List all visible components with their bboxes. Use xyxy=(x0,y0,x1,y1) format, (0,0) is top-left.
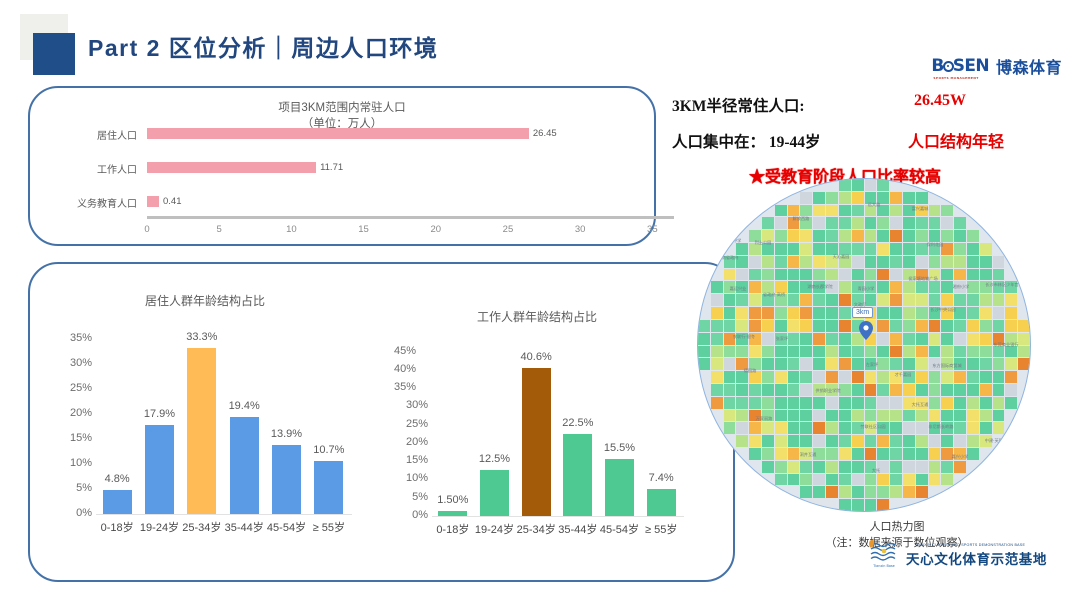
column-value-label: 33.3% xyxy=(181,331,223,343)
heatmap-cell xyxy=(941,435,953,447)
heatmap-cell xyxy=(839,461,851,473)
heatmap-cell xyxy=(839,346,851,358)
heatmap-cell xyxy=(839,333,851,345)
bosen-tagline: SPORTS MANAGEMENT xyxy=(933,76,978,80)
heatmap-cell xyxy=(775,486,787,498)
heatmap-cell xyxy=(788,486,800,498)
heatmap-cell xyxy=(852,256,864,268)
map-place-label: 省政府·高桥 xyxy=(763,292,785,298)
heatmap-cell xyxy=(993,422,1005,434)
heatmap-cell xyxy=(916,230,928,242)
heatmap-cell xyxy=(775,243,787,255)
heatmap-cell xyxy=(1005,307,1017,319)
heatmap-cell xyxy=(1018,448,1030,460)
heatmap-cell xyxy=(1005,384,1017,396)
heatmap-cell xyxy=(839,307,851,319)
heatmap-cell xyxy=(865,217,877,229)
heatmap-cell xyxy=(1018,397,1030,409)
map-place-label: 青园小学 xyxy=(858,286,875,292)
heatmap-cell xyxy=(877,256,889,268)
heatmap-cell xyxy=(762,384,774,396)
heatmap-cell xyxy=(890,281,902,293)
heatmap-cell xyxy=(788,397,800,409)
heatmap-cell xyxy=(865,410,877,422)
heatmap-cell xyxy=(826,269,838,281)
heatmap-cell xyxy=(800,243,812,255)
map-place-label: 中建·芙蓉熹光 xyxy=(985,438,1011,444)
heatmap-cell xyxy=(813,205,825,217)
heatmap-cell xyxy=(967,320,979,332)
heatmap-cell xyxy=(736,448,748,460)
heatmap-cell xyxy=(967,179,979,191)
heatmap-cell xyxy=(903,230,915,242)
heatmap-cell xyxy=(1018,217,1030,229)
y-axis-tick-label: 0% xyxy=(48,507,92,519)
map-place-label: 富兴嘉城 xyxy=(912,206,929,212)
chart2-plot-area: 0%5%10%15%20%25%30%35%4.8%0-18岁17.9%19-2… xyxy=(48,312,354,538)
heatmap-cell xyxy=(788,192,800,204)
heatmap-cell xyxy=(762,486,774,498)
heatmap-cell xyxy=(877,307,889,319)
heatmap-cell xyxy=(865,384,877,396)
kpi-agegroup-label: 人口集中在： 19-44岁 xyxy=(672,134,821,151)
heatmap-cell xyxy=(1005,371,1017,383)
heatmap-cell xyxy=(839,486,851,498)
heatmap-cell xyxy=(941,397,953,409)
heatmap-cell xyxy=(967,256,979,268)
heatmap-cell xyxy=(877,371,889,383)
chart1-x-tick: 35 xyxy=(640,224,664,235)
heatmap-cell xyxy=(839,397,851,409)
column-value-label: 15.5% xyxy=(599,442,641,454)
chart2-title: 居住人群年龄结构占比 xyxy=(60,292,350,309)
heatmap-cell xyxy=(980,205,992,217)
heatmap-cell xyxy=(724,243,736,255)
heatmap-cell xyxy=(993,205,1005,217)
heatmap-cell xyxy=(749,217,761,229)
heatmap-cell xyxy=(762,448,774,460)
heatmap-cell xyxy=(724,422,736,434)
heatmap-cell xyxy=(1018,461,1030,473)
heatmap-cell xyxy=(890,474,902,486)
heatmap-cell xyxy=(749,269,761,281)
heatmap-cell xyxy=(1005,461,1017,473)
chart1-value-label: 26.45 xyxy=(533,128,557,139)
heatmap-cell xyxy=(698,499,710,511)
heatmap-cell xyxy=(762,461,774,473)
heatmap-cell xyxy=(800,461,812,473)
card-age-structure: 居住人群年龄结构占比 0%5%10%15%20%25%30%35%4.8%0-1… xyxy=(28,262,735,582)
heatmap-cell xyxy=(1018,384,1030,396)
heatmap-cell xyxy=(903,461,915,473)
heatmap-cell xyxy=(877,410,889,422)
heatmap-cell xyxy=(762,269,774,281)
heatmap-cell xyxy=(993,320,1005,332)
heatmap-cell xyxy=(826,371,838,383)
heatmap-cell xyxy=(852,230,864,242)
heatmap-cell xyxy=(929,217,941,229)
heatmap-cell xyxy=(941,230,953,242)
heatmap-cell xyxy=(852,371,864,383)
heatmap-cell xyxy=(903,243,915,255)
heatmap-cell xyxy=(1018,307,1030,319)
chart1-category-label: 工作人口 xyxy=(45,161,137,176)
heatmap-cell xyxy=(762,422,774,434)
heatmap-cell xyxy=(839,384,851,396)
heatmap-cell xyxy=(788,320,800,332)
circle-o-icon xyxy=(943,61,954,72)
heatmap-cell xyxy=(980,307,992,319)
heatmap-cell xyxy=(967,346,979,358)
heatmap-cell xyxy=(698,461,710,473)
column-value-label: 40.6% xyxy=(515,351,557,363)
heatmap-caption-line1: 人口热力图 xyxy=(767,519,1027,535)
heatmap-cell xyxy=(826,205,838,217)
heatmap-cell xyxy=(762,205,774,217)
heatmap-cell xyxy=(852,397,864,409)
heatmap-cell xyxy=(929,410,941,422)
heatmap-cell xyxy=(813,217,825,229)
heatmap-cell xyxy=(916,346,928,358)
heatmap-cell xyxy=(877,333,889,345)
heatmap-cell xyxy=(1018,474,1030,486)
heatmap-cell xyxy=(826,294,838,306)
heatmap-cell xyxy=(839,281,851,293)
column-value-label: 17.9% xyxy=(138,408,180,420)
heatmap-cell xyxy=(980,397,992,409)
heatmap-cell xyxy=(877,474,889,486)
heatmap-cell xyxy=(775,371,787,383)
heatmap-cell xyxy=(736,384,748,396)
decorative-square-blue xyxy=(33,33,75,75)
heatmap-cell xyxy=(749,192,761,204)
heatmap-cell xyxy=(941,269,953,281)
heatmap-cell xyxy=(749,307,761,319)
heatmap-cell xyxy=(826,461,838,473)
x-axis-baseline xyxy=(96,514,352,515)
heatmap-cell xyxy=(749,320,761,332)
map-place-label: 东方国际商贸城 xyxy=(932,363,961,369)
heatmap-cell xyxy=(1018,486,1030,498)
heatmap-cell xyxy=(711,179,723,191)
chart3-plot-area: 0%5%10%15%20%25%30%35%40%45%1.50%0-18岁12… xyxy=(384,330,686,538)
heatmap-cell xyxy=(865,435,877,447)
heatmap-cell xyxy=(698,474,710,486)
map-place-label: 大托 xyxy=(872,468,880,474)
heatmap-cell xyxy=(852,243,864,255)
heatmap-cell xyxy=(903,320,915,332)
heatmap-cell xyxy=(1018,281,1030,293)
heatmap-cell xyxy=(916,422,928,434)
heatmap-cell xyxy=(788,435,800,447)
heatmap-cell xyxy=(775,307,787,319)
heatmap-cell xyxy=(967,269,979,281)
heatmap-cell xyxy=(711,320,723,332)
heatmap-cell xyxy=(698,358,710,370)
heatmap-cell xyxy=(813,499,825,511)
column-bar xyxy=(314,461,343,515)
heatmap-cell xyxy=(800,486,812,498)
heatmap-cell xyxy=(711,217,723,229)
heatmap-cell xyxy=(775,358,787,370)
heatmap-cell xyxy=(724,179,736,191)
heatmap-cell xyxy=(890,320,902,332)
heatmap-cell xyxy=(813,397,825,409)
heatmap-cell xyxy=(749,346,761,358)
heatmap-cell xyxy=(980,269,992,281)
heatmap-cell xyxy=(980,448,992,460)
chart1-x-tick: 25 xyxy=(496,224,520,235)
heatmap-cell xyxy=(800,307,812,319)
heatmap-cell xyxy=(929,435,941,447)
heatmap-cell xyxy=(877,179,889,191)
heatmap-cell xyxy=(890,230,902,242)
heatmap-cell xyxy=(813,422,825,434)
heatmap-cell xyxy=(903,499,915,511)
heatmap-cell xyxy=(762,435,774,447)
map-place-label: 高桥路 xyxy=(928,186,941,192)
heatmap-cell xyxy=(736,474,748,486)
heatmap-cell xyxy=(749,294,761,306)
column-value-label: 12.5% xyxy=(474,453,516,465)
map-place-label: 嘉兴小学 xyxy=(952,454,969,460)
heatmap-cell xyxy=(800,205,812,217)
kpi-row-agegroup: 人口集中在： 19-44岁 xyxy=(672,130,821,152)
heatmap-cell xyxy=(775,384,787,396)
heatmap-cell xyxy=(954,179,966,191)
heatmap-cell xyxy=(877,230,889,242)
column-value-label: 22.5% xyxy=(557,417,599,429)
heatmap-cell xyxy=(711,371,723,383)
heatmap-cell xyxy=(954,256,966,268)
y-axis-tick-label: 15% xyxy=(384,454,428,466)
heatmap-cell xyxy=(929,499,941,511)
chart1-category-label: 居住人口 xyxy=(45,127,137,142)
chart1-value-label: 0.41 xyxy=(163,196,182,207)
heatmap-cell xyxy=(1005,397,1017,409)
map-place-label: 湘府小学 xyxy=(953,284,970,290)
heatmap-cell xyxy=(711,243,723,255)
heatmap-cell xyxy=(993,474,1005,486)
heatmap-cell xyxy=(749,256,761,268)
heatmap-cell xyxy=(954,461,966,473)
map-place-label: 劳联社区公园 xyxy=(860,424,885,430)
heatmap-cell xyxy=(1005,474,1017,486)
heatmap-cell xyxy=(967,435,979,447)
heatmap-cell xyxy=(916,384,928,396)
heatmap-cell xyxy=(736,320,748,332)
heatmap-cell xyxy=(775,474,787,486)
heatmap-cell xyxy=(736,410,748,422)
heatmap-cell xyxy=(1018,256,1030,268)
heatmap-cell xyxy=(749,486,761,498)
heatmap-cell xyxy=(877,499,889,511)
map-pin-icon[interactable] xyxy=(859,321,873,345)
heatmap-cell xyxy=(800,256,812,268)
heatmap-cell xyxy=(711,448,723,460)
heatmap-cell xyxy=(813,346,825,358)
heatmap-cell xyxy=(826,448,838,460)
chart1-category-label: 义务教育人口 xyxy=(45,195,137,210)
heatmap-cell xyxy=(736,307,748,319)
heatmap-cell xyxy=(916,499,928,511)
map-place-label: 长沙中央公园 xyxy=(930,307,955,313)
heatmap-cell xyxy=(903,474,915,486)
heatmap-cell xyxy=(724,474,736,486)
heatmap-cell xyxy=(749,397,761,409)
heatmap-cell xyxy=(852,192,864,204)
heatmap-cell xyxy=(724,320,736,332)
heatmap-cell xyxy=(813,486,825,498)
heatmap-cell xyxy=(941,486,953,498)
y-axis-tick-label: 5% xyxy=(48,482,92,494)
heatmap-cell xyxy=(929,320,941,332)
tianxin-base-logo: Tianxin Base TIANXIN CULTURE AND SPORTS … xyxy=(868,540,1047,570)
heatmap-cell xyxy=(980,179,992,191)
heatmap-cell xyxy=(749,384,761,396)
heatmap-cell xyxy=(903,294,915,306)
heatmap-cell xyxy=(993,256,1005,268)
heatmap-cell xyxy=(1018,243,1030,255)
y-axis-tick-label: 40% xyxy=(384,363,416,375)
heatmap-cell xyxy=(788,499,800,511)
heatmap-cell xyxy=(800,320,812,332)
heatmap-cell xyxy=(724,410,736,422)
heatmap-cell xyxy=(1005,269,1017,281)
heatmap-cell xyxy=(993,448,1005,460)
heatmap-cell xyxy=(711,205,723,217)
heatmap-cell xyxy=(954,333,966,345)
heatmap-cell xyxy=(775,269,787,281)
heatmap-cell xyxy=(993,410,1005,422)
heatmap-cell xyxy=(993,371,1005,383)
heatmap-cell xyxy=(993,499,1005,511)
column-bar xyxy=(272,445,301,515)
kpi-population-label: 3KM半径常住人口: xyxy=(672,98,805,115)
heatmap-cell xyxy=(800,230,812,242)
heatmap-cell xyxy=(1005,422,1017,434)
heatmap-cell xyxy=(993,192,1005,204)
heatmap-cell xyxy=(775,192,787,204)
heatmap-cell xyxy=(826,499,838,511)
heatmap-cell xyxy=(711,192,723,204)
heatmap-cell xyxy=(967,448,979,460)
heatmap-cell xyxy=(788,269,800,281)
heatmap-cell xyxy=(877,397,889,409)
heatmap-cell xyxy=(941,192,953,204)
heatmap-cell xyxy=(954,384,966,396)
heatmap-cell xyxy=(865,243,877,255)
heatmap-cell xyxy=(993,461,1005,473)
heatmap-cell xyxy=(813,230,825,242)
heatmap-cell xyxy=(826,397,838,409)
y-axis-tick-label: 35% xyxy=(384,381,416,393)
heatmap-cell xyxy=(877,486,889,498)
heatmap-cell xyxy=(839,205,851,217)
heatmap-cell xyxy=(698,269,710,281)
heatmap-cell xyxy=(813,256,825,268)
heatmap-cell xyxy=(736,486,748,498)
heatmap-cell xyxy=(698,384,710,396)
heatmap-cell xyxy=(788,243,800,255)
heatmap-cell xyxy=(826,217,838,229)
heatmap-cell xyxy=(775,346,787,358)
heatmap-circle-clip: 火车站高桥路井湾子远大路富兴嘉城解放西路长塘里小学雅礼中学烈士公园湖南省政府天沁… xyxy=(697,178,1031,512)
map-place-label: 万家丽路 xyxy=(756,416,773,422)
heatmap-cell xyxy=(775,217,787,229)
heatmap-cell xyxy=(800,474,812,486)
chart1-bar xyxy=(147,196,159,207)
heatmap-cell xyxy=(724,346,736,358)
heatmap-cell xyxy=(877,269,889,281)
heatmap-cell xyxy=(749,474,761,486)
heatmap-cell xyxy=(749,422,761,434)
heatmap-cell xyxy=(967,294,979,306)
heatmap-cell xyxy=(724,358,736,370)
heatmap-cell xyxy=(865,179,877,191)
heatmap-cell xyxy=(711,346,723,358)
heatmap-cell xyxy=(980,422,992,434)
heatmap-cell xyxy=(724,192,736,204)
heatmap-cell xyxy=(724,371,736,383)
heatmap-cell xyxy=(877,448,889,460)
heatmap-cell xyxy=(916,256,928,268)
heatmap-cell xyxy=(775,256,787,268)
y-axis-tick-label: 0% xyxy=(384,509,428,521)
heatmap-cell xyxy=(929,384,941,396)
heatmap-cell xyxy=(711,435,723,447)
map-place-label: 东莞商业银行 xyxy=(993,342,1018,348)
population-heatmap[interactable]: 火车站高桥路井湾子远大路富兴嘉城解放西路长塘里小学雅礼中学烈士公园湖南省政府天沁… xyxy=(697,178,1031,512)
heatmap-cell xyxy=(762,499,774,511)
heatmap-cell xyxy=(852,179,864,191)
heatmap-cell xyxy=(788,371,800,383)
heatmap-cell xyxy=(929,448,941,460)
heatmap-cell xyxy=(813,333,825,345)
heatmap-cell xyxy=(775,499,787,511)
heatmap-cell xyxy=(980,499,992,511)
x-axis-category-label: 25-34岁 xyxy=(515,521,557,537)
heatmap-cell xyxy=(877,384,889,396)
heatmap-cell xyxy=(954,307,966,319)
heatmap-cell xyxy=(788,410,800,422)
map-place-label: 雅礼中学 xyxy=(725,238,742,244)
heatmap-cell xyxy=(916,294,928,306)
bosen-wordmark: BSEN SPORTS MANAGEMENT xyxy=(931,56,989,76)
heatmap-cell xyxy=(929,397,941,409)
heatmap-cell xyxy=(967,217,979,229)
heatmap-cell xyxy=(839,230,851,242)
heatmap-cell xyxy=(788,474,800,486)
heatmap-cell xyxy=(865,371,877,383)
heatmap-cell xyxy=(826,474,838,486)
heatmap-cell xyxy=(775,448,787,460)
heatmap-cell xyxy=(736,192,748,204)
heatmap-cell xyxy=(903,333,915,345)
heatmap-cell xyxy=(775,397,787,409)
heatmap-cell xyxy=(1018,358,1030,370)
y-axis-tick-label: 20% xyxy=(384,436,428,448)
heatmap-cell xyxy=(980,192,992,204)
heatmap-cell xyxy=(967,422,979,434)
base-logo-text: TIANXIN CULTURE AND SPORTS DEMONSTRATION… xyxy=(906,543,1047,568)
heatmap-cell xyxy=(852,384,864,396)
heatmap-cell xyxy=(736,461,748,473)
heatmap-cell xyxy=(724,397,736,409)
heatmap-cell xyxy=(916,435,928,447)
heatmap-cell xyxy=(916,371,928,383)
y-axis-tick-label: 5% xyxy=(384,491,428,503)
